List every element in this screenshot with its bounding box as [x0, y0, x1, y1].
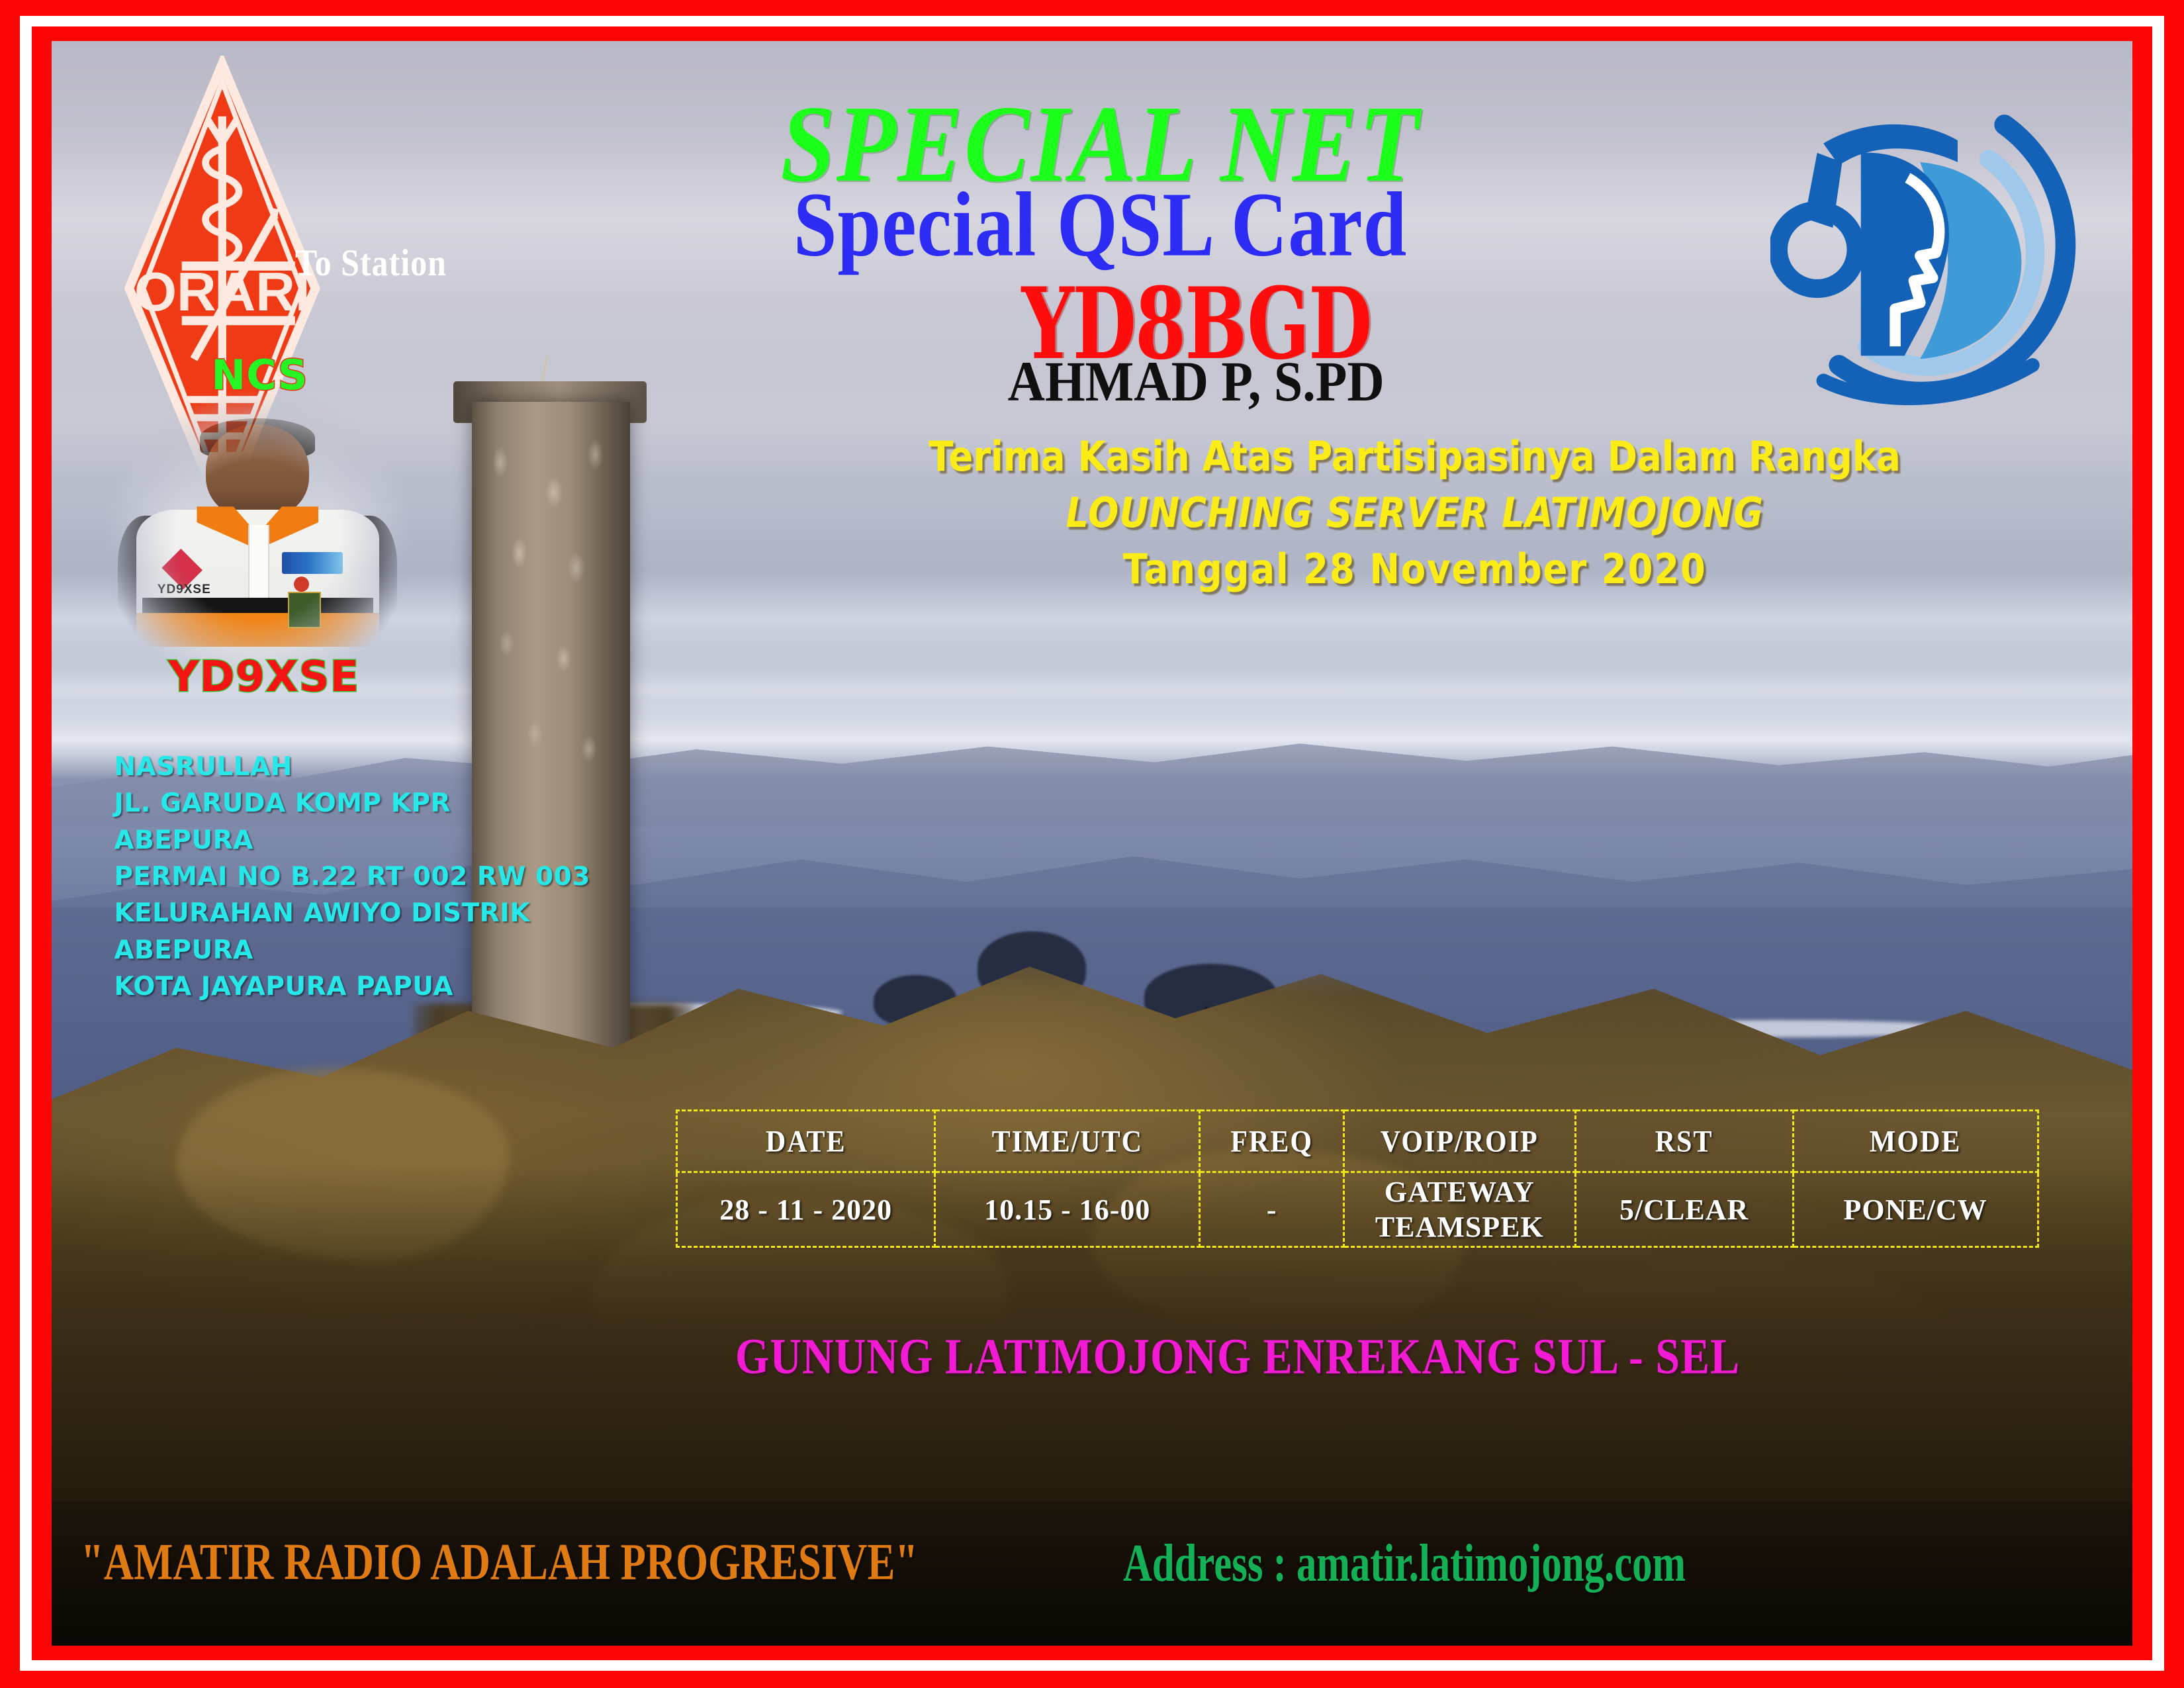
ncs-callsign: YD9XSE: [97, 653, 430, 702]
address-line: PERMAI NO B.22 RT 002 RW 003: [114, 859, 696, 895]
address-line: KELURAHAN AWIYO DISTRIK: [114, 895, 696, 931]
operator-name: AHMAD P, S.PD: [780, 349, 1612, 414]
sender-address-block: NASRULLAH JL. GARUDA KOMP KPR ABEPURA PE…: [114, 749, 696, 1006]
column-header-voip: VOIP/ROIP: [1344, 1107, 1575, 1175]
avatar: YD9XSE: [106, 388, 410, 693]
avatar-face: [206, 424, 309, 519]
column-header-mode: MODE: [1793, 1107, 2038, 1175]
address-line: JL. GARUDA KOMP KPR: [114, 785, 696, 821]
background-photograph: ORARI: [52, 41, 2132, 1646]
column-header-freq: FREQ: [1200, 1107, 1344, 1175]
to-station-label: To Station: [295, 240, 447, 285]
cell-freq: -: [1200, 1172, 1344, 1247]
column-header-date: DATE: [677, 1107, 935, 1175]
avatar-belt: [142, 598, 373, 613]
cell-date: 28 - 11 - 2020: [677, 1172, 935, 1247]
location-text: GUNUNG LATIMOJONG ENREKANG SUL - SEL: [592, 1328, 1882, 1386]
page-subtitle: Special QSL Card: [518, 179, 1683, 271]
cell-rst: 5/CLEAR: [1575, 1172, 1793, 1247]
thanks-message-line1: Terima Kasih Atas Partisipasinya Dalam R…: [847, 432, 1982, 481]
headset-profile-radio-logo: [1770, 79, 2083, 426]
avatar-orange-sash: [136, 613, 379, 647]
address-line: ABEPURA: [114, 932, 696, 968]
address-line: NASRULLAH: [114, 749, 696, 785]
cell-mode: PONE/CW: [1793, 1172, 2038, 1247]
avatar-uniform-callsign: YD9XSE: [158, 583, 211, 597]
table-header-row: DATE TIME/UTC FREQ VOIP/ROIP RST MODE: [677, 1111, 2038, 1172]
event-date: Tanggal 28 November 2020: [847, 545, 1982, 593]
motto-text: "AMATIR RADIO ADALAH PROGRESIVE": [81, 1533, 918, 1593]
column-header-time: TIME/UTC: [935, 1107, 1200, 1175]
qsl-card-frame: ORARI: [0, 0, 2184, 1688]
cell-voip: GATEWAY TEAMSPEK: [1344, 1172, 1575, 1247]
table-row: 28 - 11 - 2020 10.15 - 16-00 - GATEWAY T…: [677, 1172, 2038, 1247]
avatar-id-card: [288, 592, 321, 628]
address-line: ABEPURA: [114, 822, 696, 859]
qso-details-table: DATE TIME/UTC FREQ VOIP/ROIP RST MODE 28…: [676, 1109, 2038, 1248]
avatar-chest-emblem: [282, 552, 343, 573]
event-name: LOUNCHING SERVER LATIMOJONG: [847, 489, 1982, 537]
address-line: KOTA JAYAPURA PAPUA: [114, 968, 696, 1005]
web-address-text: Address : amatir.latimojong.com: [1123, 1533, 1686, 1595]
cell-time: 10.15 - 16-00: [935, 1172, 1200, 1247]
column-header-rst: RST: [1575, 1107, 1793, 1175]
